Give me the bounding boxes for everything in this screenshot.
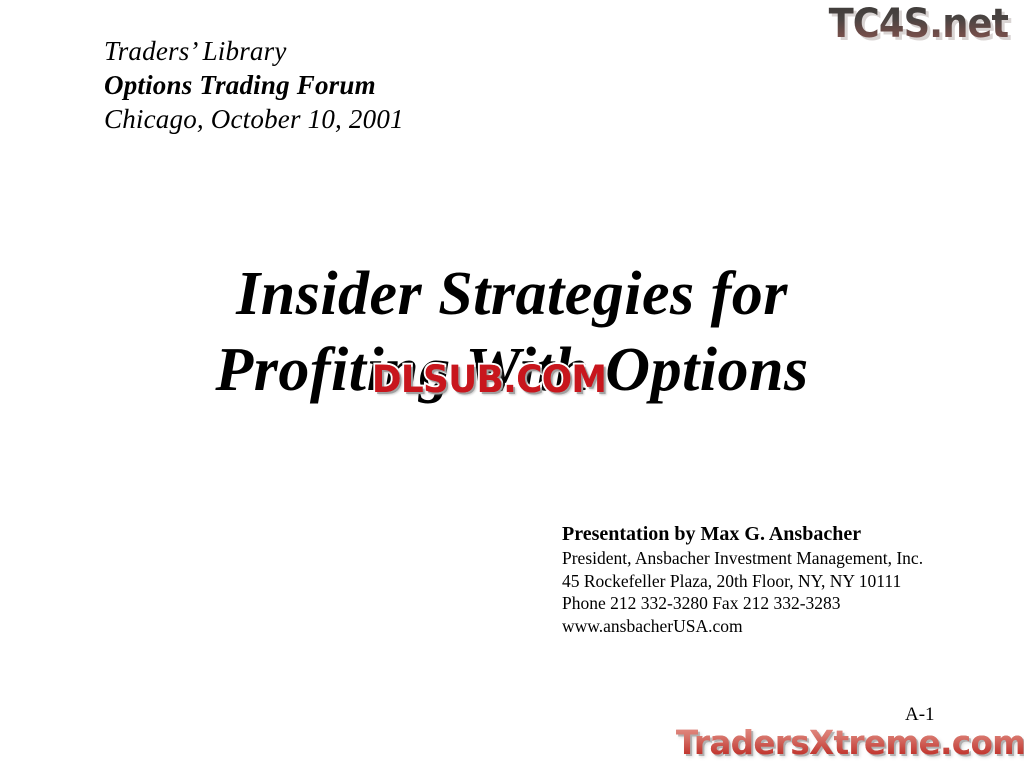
presenter-phone-fax: Phone 212 332-3280 Fax 212 332-3283 bbox=[562, 592, 923, 615]
header-line-location-date: Chicago, October 10, 2001 bbox=[104, 102, 404, 136]
title-line-1: Insider Strategies for bbox=[0, 256, 1024, 332]
slide-header: Traders’ Library Options Trading Forum C… bbox=[104, 34, 404, 136]
header-line-organization: Traders’ Library bbox=[104, 34, 404, 68]
presenter-title-company: President, Ansbacher Investment Manageme… bbox=[562, 547, 923, 570]
presenter-website: www.ansbacherUSA.com bbox=[562, 615, 923, 638]
presenter-address: 45 Rockefeller Plaza, 20th Floor, NY, NY… bbox=[562, 570, 923, 593]
tradersxtreme-logo: TradersXtreme.com bbox=[676, 723, 1024, 763]
presenter-name: Presentation by Max G. Ansbacher bbox=[562, 521, 923, 547]
dlsub-watermark: DLSUB.COM bbox=[372, 360, 606, 400]
header-line-event: Options Trading Forum bbox=[104, 68, 404, 102]
presenter-info: Presentation by Max G. Ansbacher Preside… bbox=[562, 521, 923, 637]
tc4s-net-logo: TC4S.net bbox=[828, 2, 1008, 46]
presentation-slide: TC4S.net TC4S.net Traders’ Library Optio… bbox=[0, 0, 1024, 768]
